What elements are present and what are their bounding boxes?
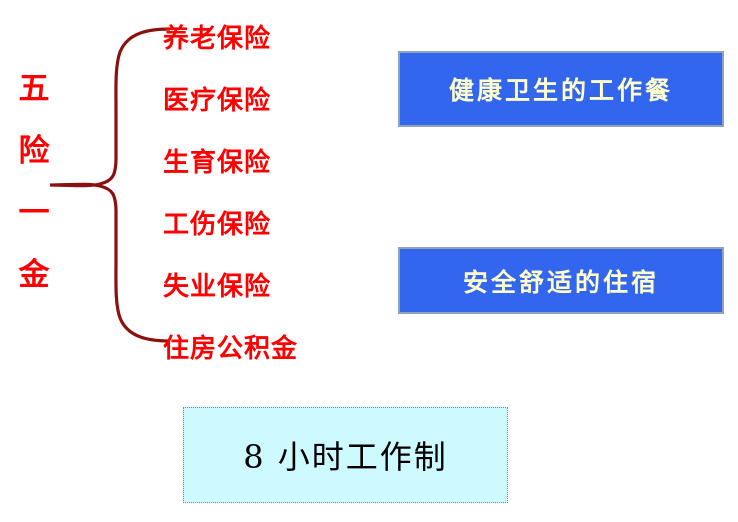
callout-label: 安全舒适的住宿 [463,263,659,299]
list-item: 住房公积金 [163,318,363,380]
list-item: 医疗保险 [163,70,363,132]
callout-label: 8 小时工作制 [243,432,448,478]
callout-box-working-hours: 8 小时工作制 [183,407,508,503]
insurance-item-list: 养老保险 医疗保险 生育保险 工伤保险 失业保险 住房公积金 [163,8,363,380]
callout-label: 健康卫生的工作餐 [449,71,673,107]
callout-box-housing: 安全舒适的住宿 [398,247,724,314]
curly-brace [50,18,170,348]
curly-brace-icon [50,18,170,348]
list-item: 生育保险 [163,132,363,194]
list-item: 失业保险 [163,256,363,318]
list-item: 养老保险 [163,8,363,70]
slide-canvas: 五 险 一 金 养老保险 医疗保险 生育保险 工伤保险 失业保险 住房公积金 健… [0,0,738,522]
list-item: 工伤保险 [163,194,363,256]
callout-box-meals: 健康卫生的工作餐 [398,51,724,127]
